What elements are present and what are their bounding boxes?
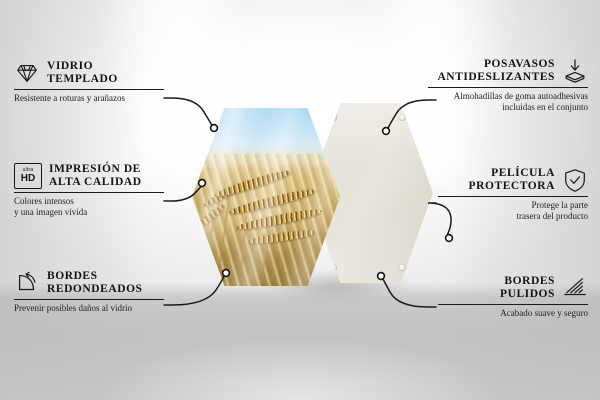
feature-title: BORDES REDONDEADOS <box>47 270 143 296</box>
diamond-icon <box>14 60 40 86</box>
press-pad-icon <box>562 58 588 84</box>
product-front-printed-panel <box>192 108 340 286</box>
feature-title: IMPRESIÓN DE ALTA CALIDAD <box>49 163 142 189</box>
feature-head: BORDES PULIDOS <box>438 275 588 301</box>
feature-title: PELÍCULA PROTECTORA <box>469 167 555 193</box>
shield-check-icon <box>562 167 588 193</box>
feature-description: Resistente a roturas y arañazos <box>14 93 164 104</box>
feature-divider <box>14 192 164 193</box>
rubber-pad <box>330 114 337 121</box>
badge-bottom-label: HD <box>21 174 35 184</box>
feature-callout-posavasos-antideslizantes: POSAVASOS ANTIDESLIZANTES Almohadillas d… <box>428 58 588 113</box>
feature-description: Almohadillas de goma autoadhesivas inclu… <box>428 91 588 113</box>
ultra-hd-badge-icon: ultra HD <box>14 163 42 189</box>
feature-divider <box>428 87 588 88</box>
feature-title: VIDRIO TEMPLADO <box>47 60 118 86</box>
feature-callout-pelicula-protectora: PELÍCULA PROTECTORA Protege la parte tra… <box>438 167 588 222</box>
rubber-pad <box>399 264 406 271</box>
feature-description: Colores intensos y una imagen vívida <box>14 196 164 218</box>
rubber-pad <box>399 114 406 121</box>
feature-callout-impresion-alta-calidad: ultra HD IMPRESIÓN DE ALTA CALIDAD Color… <box>14 163 164 218</box>
rounded-corner-icon <box>14 270 40 296</box>
infographic-canvas: VIDRIO TEMPLADO Resistente a roturas y a… <box>0 0 600 400</box>
feature-head: ultra HD IMPRESIÓN DE ALTA CALIDAD <box>14 163 164 189</box>
feature-head: POSAVASOS ANTIDESLIZANTES <box>428 58 588 84</box>
feature-title: BORDES PULIDOS <box>500 275 555 301</box>
feature-title: POSAVASOS ANTIDESLIZANTES <box>437 58 555 84</box>
polished-edge-hatch-icon <box>562 275 588 301</box>
feature-description: Acabado suave y seguro <box>438 308 588 319</box>
feature-divider <box>14 89 164 90</box>
feature-divider <box>14 299 164 300</box>
feature-head: PELÍCULA PROTECTORA <box>438 167 588 193</box>
feature-head: BORDES REDONDEADOS <box>14 270 164 296</box>
feature-description: Prevenir posibles daños al vidrio <box>14 303 164 314</box>
feature-callout-bordes-redondeados: BORDES REDONDEADOS Prevenir posibles dañ… <box>14 270 164 314</box>
feature-description: Protege la parte trasera del producto <box>438 200 588 222</box>
feature-divider <box>438 196 588 197</box>
feature-divider <box>438 304 588 305</box>
feature-callout-bordes-pulidos: BORDES PULIDOS Acabado suave y seguro <box>438 275 588 319</box>
feature-head: VIDRIO TEMPLADO <box>14 60 164 86</box>
feature-callout-vidrio-templado: VIDRIO TEMPLADO Resistente a roturas y a… <box>14 60 164 104</box>
glass-window-reflection <box>192 108 340 286</box>
